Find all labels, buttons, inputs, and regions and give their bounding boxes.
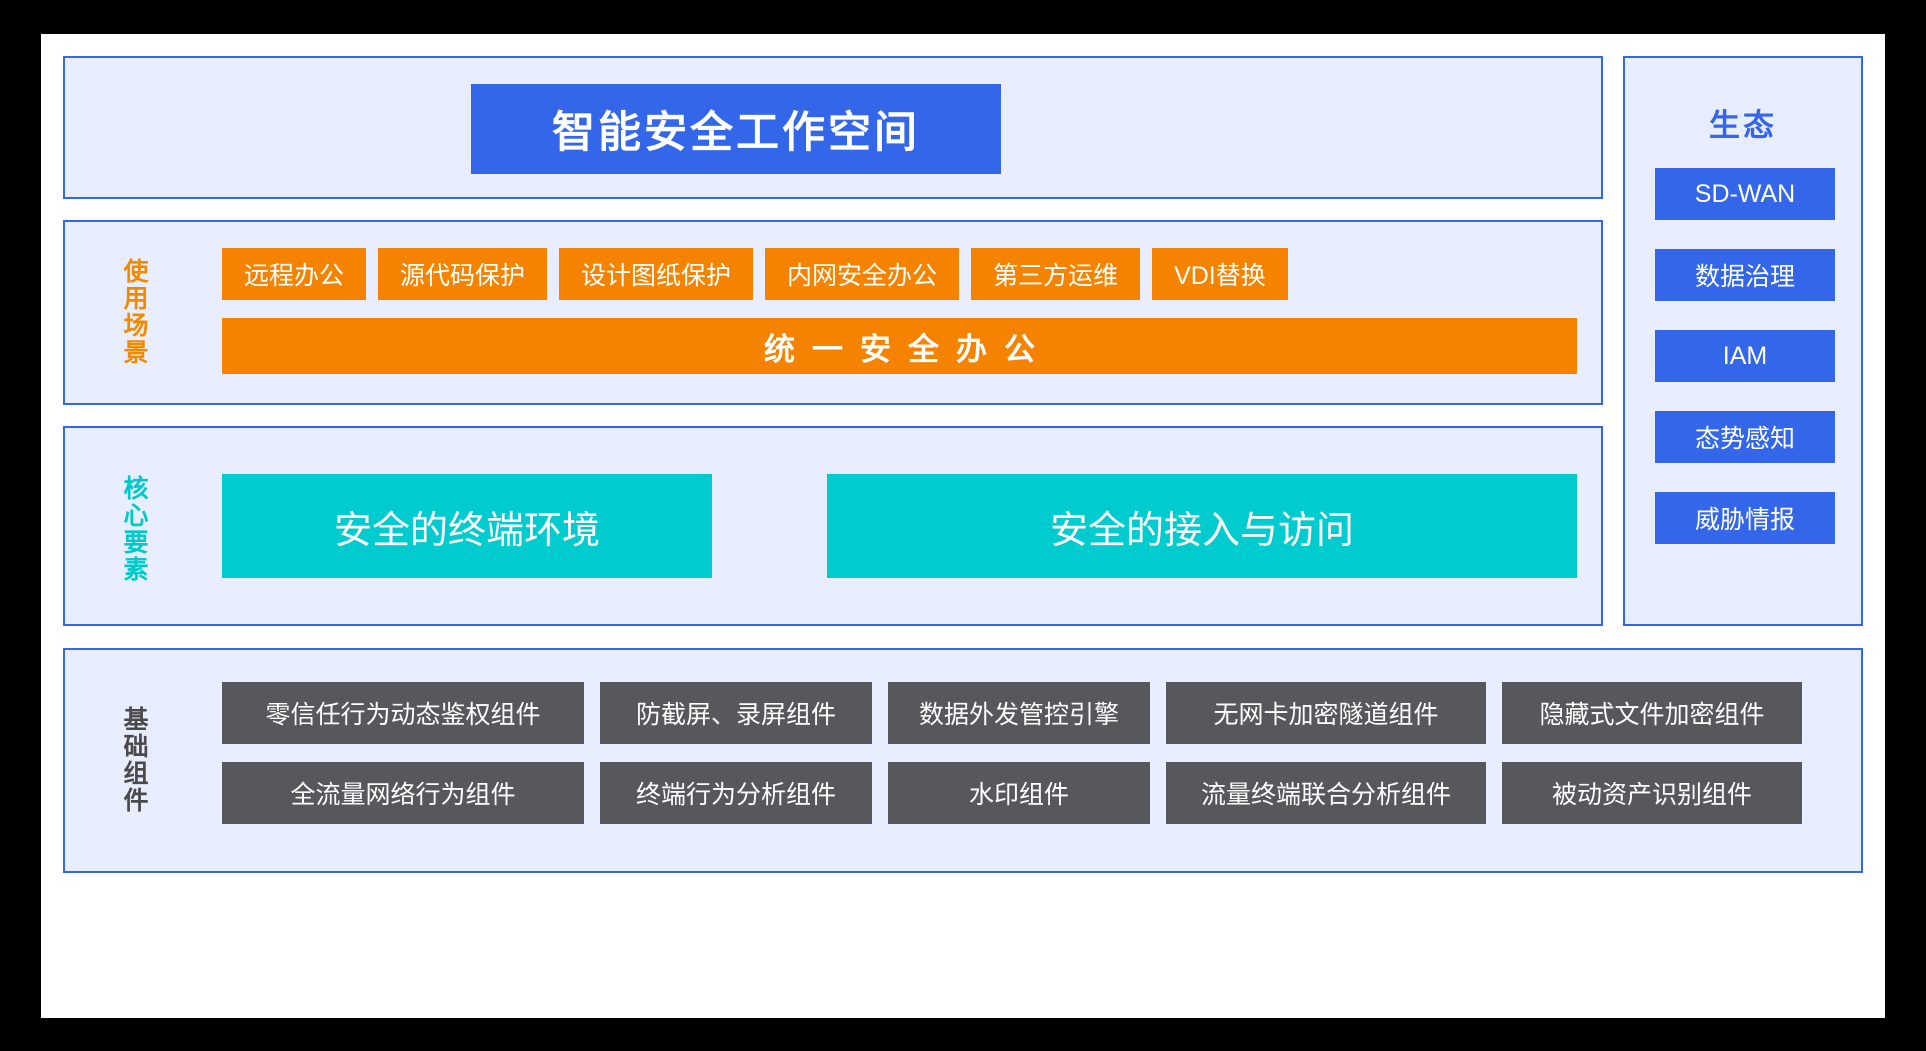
base-components-row: 全流量网络行为组件 终端行为分析组件 水印组件 流量终端联合分析组件 被动资产识… [222,762,1832,824]
base-components-panel: 基础组件 零信任行为动态鉴权组件 防截屏、录屏组件 数据外发管控引擎 无网卡加密… [63,648,1863,873]
base-component-box[interactable]: 全流量网络行为组件 [222,762,584,824]
base-components-label: 基础组件 [117,680,150,840]
base-component-box[interactable]: 终端行为分析组件 [600,762,872,824]
ecosystem-item[interactable]: 态势感知 [1655,411,1835,463]
scenario-tag[interactable]: VDI替换 [1152,248,1288,300]
core-element-box[interactable]: 安全的终端环境 [222,474,712,578]
base-component-box[interactable]: 被动资产识别组件 [1502,762,1802,824]
scenario-tag[interactable]: 源代码保护 [378,248,547,300]
core-elements-row: 安全的终端环境 安全的接入与访问 [222,474,1577,578]
base-component-box[interactable]: 隐藏式文件加密组件 [1502,682,1802,744]
base-component-box[interactable]: 水印组件 [888,762,1150,824]
usage-scenarios-label: 使用场景 [117,236,150,388]
diagram-page: 智能安全工作空间 使用场景 远程办公 源代码保护 设计图纸保护 内网安全办公 第… [41,34,1885,1018]
ecosystem-title: 生态 [1625,100,1861,145]
ecosystem-item[interactable]: SD-WAN [1655,168,1835,220]
core-elements-label: 核心要素 [117,450,150,608]
usage-scenarios-panel: 使用场景 远程办公 源代码保护 设计图纸保护 内网安全办公 第三方运维 VDI替… [63,220,1603,405]
ecosystem-item[interactable]: 威胁情报 [1655,492,1835,544]
ecosystem-list: SD-WAN 数据治理 IAM 态势感知 威胁情报 [1655,168,1835,544]
hero-title-banner: 智能安全工作空间 [471,84,1001,174]
base-component-box[interactable]: 流量终端联合分析组件 [1166,762,1486,824]
scenario-tag-row: 远程办公 源代码保护 设计图纸保护 内网安全办公 第三方运维 VDI替换 [222,248,1577,300]
ecosystem-item[interactable]: 数据治理 [1655,249,1835,301]
scenario-tag[interactable]: 第三方运维 [971,248,1140,300]
core-element-box[interactable]: 安全的接入与访问 [827,474,1577,578]
scenario-tag[interactable]: 远程办公 [222,248,366,300]
unified-secure-office-bar: 统一安全办公 [222,318,1577,374]
ecosystem-panel: 生态 SD-WAN 数据治理 IAM 态势感知 威胁情报 [1623,56,1863,626]
ecosystem-item[interactable]: IAM [1655,330,1835,382]
base-components-row: 零信任行为动态鉴权组件 防截屏、录屏组件 数据外发管控引擎 无网卡加密隧道组件 … [222,682,1832,744]
scenario-tag[interactable]: 内网安全办公 [765,248,959,300]
base-component-box[interactable]: 数据外发管控引擎 [888,682,1150,744]
base-component-box[interactable]: 无网卡加密隧道组件 [1166,682,1486,744]
core-elements-panel: 核心要素 安全的终端环境 安全的接入与访问 [63,426,1603,626]
scenario-tag[interactable]: 设计图纸保护 [559,248,753,300]
base-components-grid: 零信任行为动态鉴权组件 防截屏、录屏组件 数据外发管控引擎 无网卡加密隧道组件 … [222,682,1832,842]
base-component-box[interactable]: 零信任行为动态鉴权组件 [222,682,584,744]
base-component-box[interactable]: 防截屏、录屏组件 [600,682,872,744]
title-panel: 智能安全工作空间 [63,56,1603,199]
diagram-canvas: 智能安全工作空间 使用场景 远程办公 源代码保护 设计图纸保护 内网安全办公 第… [63,56,1863,996]
